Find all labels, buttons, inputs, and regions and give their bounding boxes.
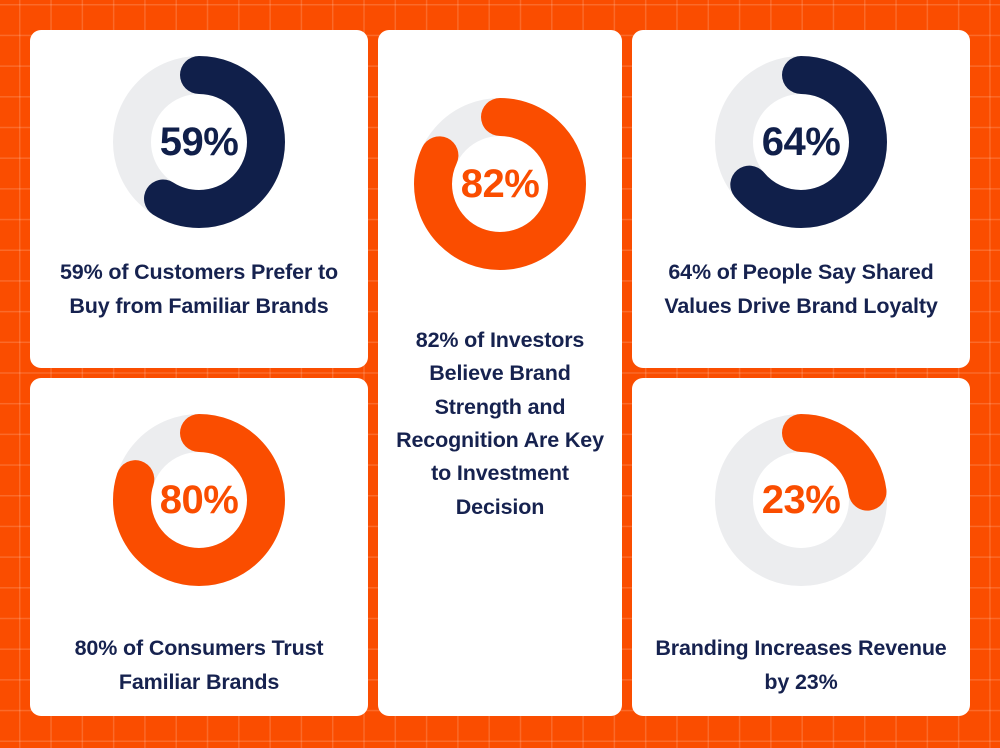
donut-chart-23: 23% bbox=[715, 414, 887, 586]
donut-percent-label-59: 59% bbox=[113, 56, 285, 228]
donut-percent-label-23: 23% bbox=[715, 414, 887, 586]
stat-card-consumers-trust-familiar: 80% 80% of Consumers Trust Familiar Bran… bbox=[30, 378, 368, 716]
stat-caption-64: 64% of People Say Shared Values Drive Br… bbox=[632, 256, 970, 323]
donut-chart-59: 59% bbox=[113, 56, 285, 228]
stat-caption-59: 59% of Customers Prefer to Buy from Fami… bbox=[30, 256, 368, 323]
stat-caption-82: 82% of Investors Believe Brand Strength … bbox=[378, 324, 622, 524]
stat-card-branding-revenue: 23% Branding Increases Revenue by 23% bbox=[632, 378, 970, 716]
donut-chart-64: 64% bbox=[715, 56, 887, 228]
stat-card-investors-brand-strength: 82% 82% of Investors Believe Brand Stren… bbox=[378, 30, 622, 716]
infographic-canvas: 59% 59% of Customers Prefer to Buy from … bbox=[0, 0, 1000, 748]
donut-percent-label-80: 80% bbox=[113, 414, 285, 586]
stat-card-shared-values-loyalty: 64% 64% of People Say Shared Values Driv… bbox=[632, 30, 970, 368]
stat-caption-23: Branding Increases Revenue by 23% bbox=[632, 632, 970, 699]
stat-card-grid: 59% 59% of Customers Prefer to Buy from … bbox=[30, 30, 970, 716]
donut-percent-label-82: 82% bbox=[414, 98, 586, 270]
donut-chart-80: 80% bbox=[113, 414, 285, 586]
stat-caption-80: 80% of Consumers Trust Familiar Brands bbox=[30, 632, 368, 699]
donut-chart-82: 82% bbox=[414, 98, 586, 270]
stat-card-customers-prefer-familiar: 59% 59% of Customers Prefer to Buy from … bbox=[30, 30, 368, 368]
donut-percent-label-64: 64% bbox=[715, 56, 887, 228]
